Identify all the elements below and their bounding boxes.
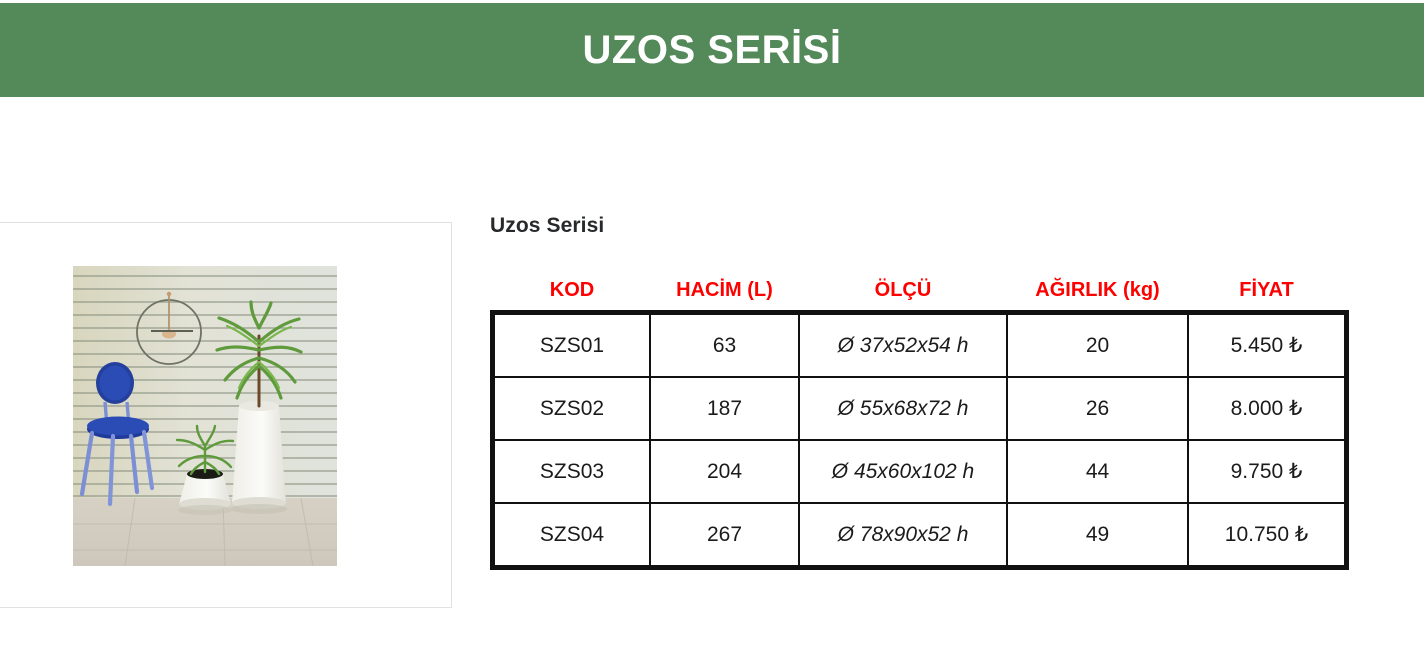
cell-olcu: Ø 45x60x102 h <box>799 440 1007 503</box>
product-photo-illustration <box>73 266 337 566</box>
cell-agirlik: 20 <box>1007 314 1188 377</box>
cell-fiyat: 8.000 ₺ <box>1188 377 1345 440</box>
cell-kod: SZS03 <box>494 440 650 503</box>
table-row: SZS04 267 Ø 78x90x52 h 49 10.750 ₺ <box>494 503 1345 566</box>
cell-olcu: Ø 37x52x54 h <box>799 314 1007 377</box>
column-header-agirlik: AĞIRLIK (kg) <box>1007 280 1188 314</box>
column-header-hacim: HACİM (L) <box>650 280 799 314</box>
cell-agirlik: 44 <box>1007 440 1188 503</box>
cell-hacim: 267 <box>650 503 799 566</box>
page-banner: UZOS SERİSİ <box>0 3 1424 97</box>
cell-hacim: 63 <box>650 314 799 377</box>
cell-fiyat: 10.750 ₺ <box>1188 503 1345 566</box>
cell-agirlik: 26 <box>1007 377 1188 440</box>
cell-hacim: 187 <box>650 377 799 440</box>
cell-kod: SZS04 <box>494 503 650 566</box>
cell-fiyat: 5.450 ₺ <box>1188 314 1345 377</box>
table-row: SZS02 187 Ø 55x68x72 h 26 8.000 ₺ <box>494 377 1345 440</box>
cell-hacim: 204 <box>650 440 799 503</box>
cell-kod: SZS01 <box>494 314 650 377</box>
cell-kod: SZS02 <box>494 377 650 440</box>
column-header-fiyat: FİYAT <box>1188 280 1345 314</box>
table-header-row: KOD HACİM (L) ÖLÇÜ AĞIRLIK (kg) FİYAT <box>494 280 1345 314</box>
cell-fiyat: 9.750 ₺ <box>1188 440 1345 503</box>
specification-table: KOD HACİM (L) ÖLÇÜ AĞIRLIK (kg) FİYAT SZ… <box>493 280 1346 567</box>
cell-olcu: Ø 78x90x52 h <box>799 503 1007 566</box>
series-subtitle: Uzos Serisi <box>490 215 1370 236</box>
table-row: SZS03 204 Ø 45x60x102 h 44 9.750 ₺ <box>494 440 1345 503</box>
tall-planter <box>231 401 287 514</box>
cell-olcu: Ø 55x68x72 h <box>799 377 1007 440</box>
column-header-kod: KOD <box>494 280 650 314</box>
cell-agirlik: 49 <box>1007 503 1188 566</box>
product-image-card <box>0 222 452 608</box>
column-header-olcu: ÖLÇÜ <box>799 280 1007 314</box>
series-content: Uzos Serisi KOD HACİM (L) ÖLÇÜ AĞIRLIK (… <box>490 215 1370 567</box>
table-row: SZS01 63 Ø 37x52x54 h 20 5.450 ₺ <box>494 314 1345 377</box>
page-title: UZOS SERİSİ <box>583 30 842 70</box>
product-photo <box>73 266 337 566</box>
